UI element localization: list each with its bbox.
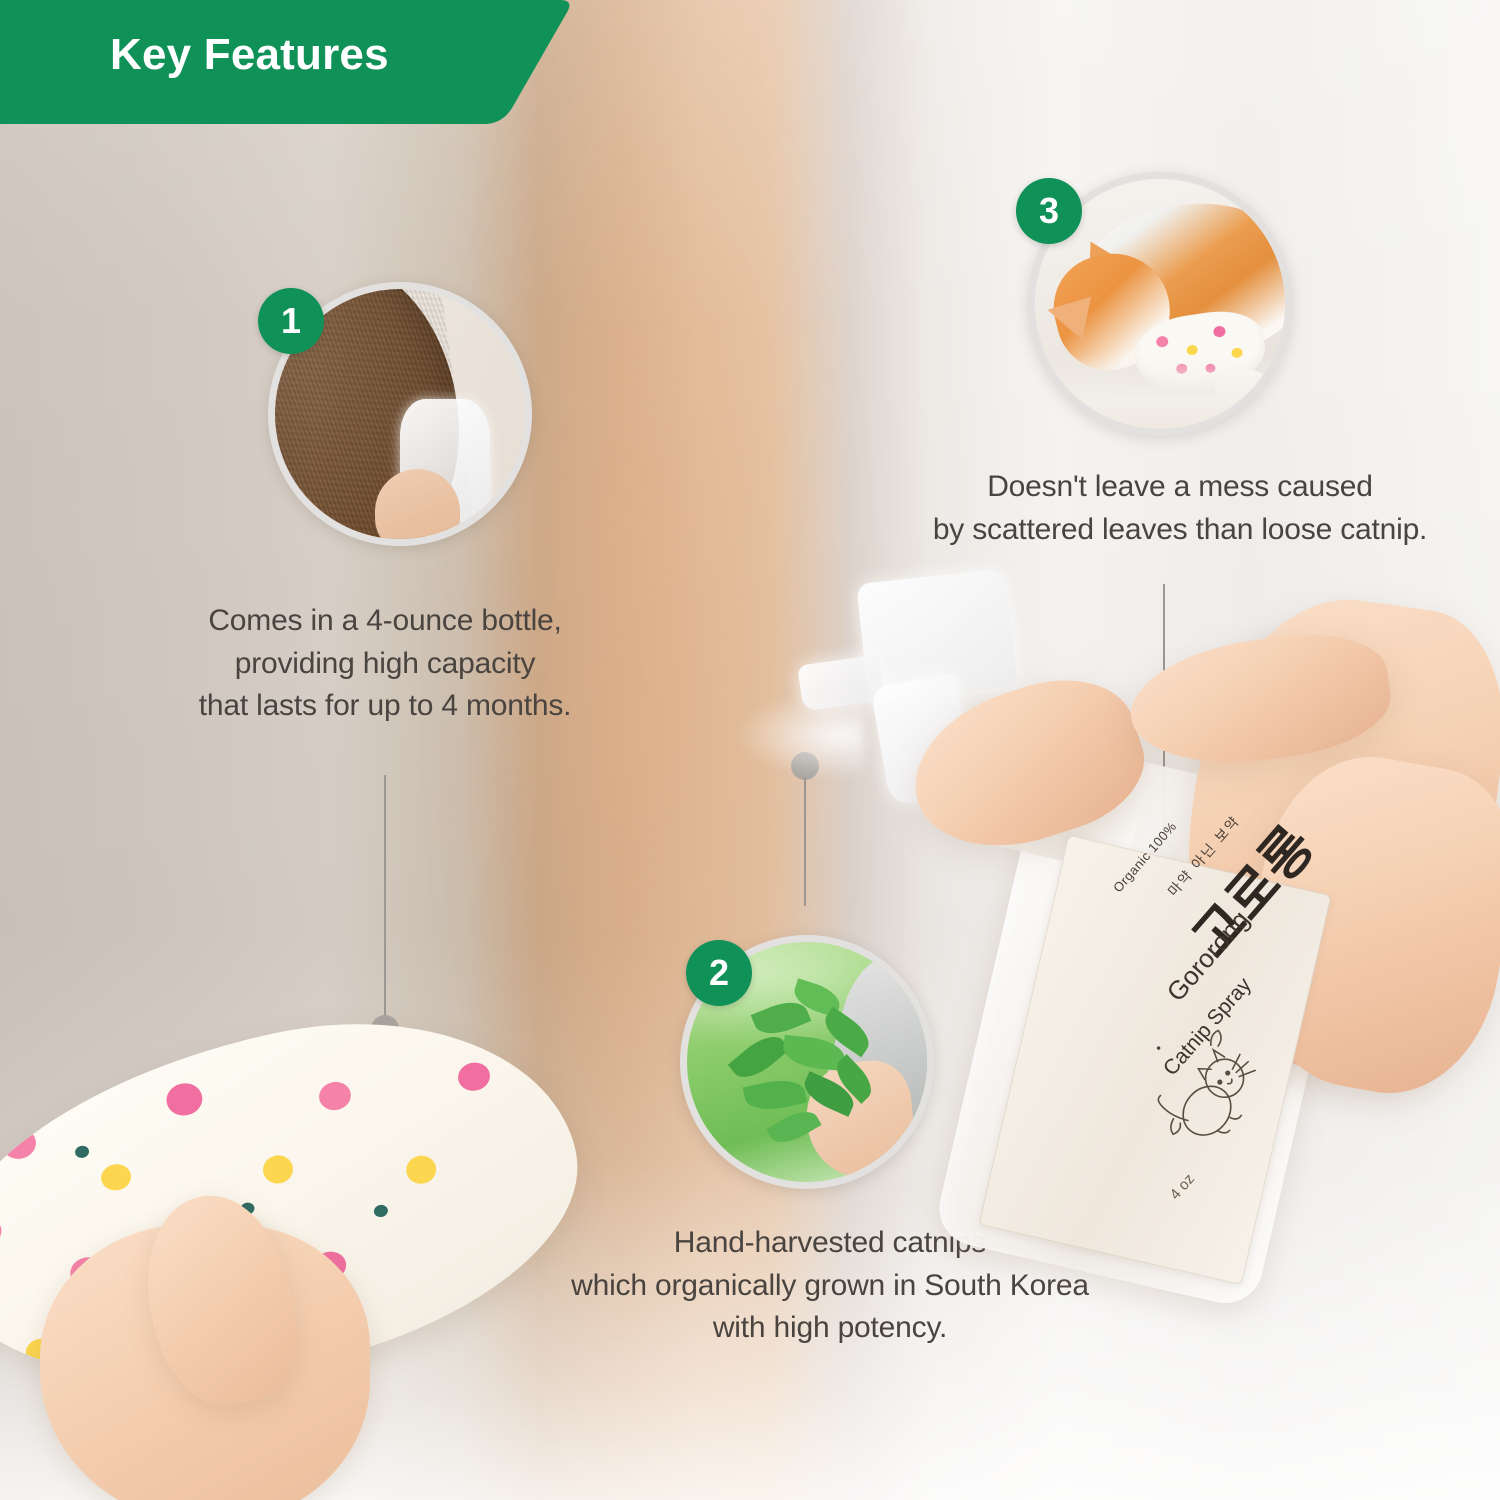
page-title: Key Features [110, 30, 389, 80]
feature-1-number: 1 [281, 300, 301, 342]
feature-2-badge: 2 [686, 940, 752, 1006]
feature-1-badge: 1 [258, 288, 324, 354]
infographic-canvas: Organic 100% 마약 아닌 보약 고로롱 Gororong • Cat… [0, 0, 1500, 1500]
feature-3-badge: 3 [1016, 178, 1082, 244]
feature-2-number: 2 [709, 952, 729, 994]
connector-line-2 [804, 778, 806, 906]
feature-3-caption: Doesn't leave a mess caused by scattered… [880, 466, 1480, 551]
feature-3-number: 3 [1039, 190, 1059, 232]
label-separator-dot: • [1151, 1041, 1165, 1054]
connector-line-1 [384, 775, 386, 1025]
feature-1-caption: Comes in a 4-ounce bottle, providing hig… [140, 600, 630, 728]
label-volume: 4 oz [1167, 1171, 1198, 1204]
cat-line-drawing-icon [1127, 1014, 1289, 1177]
